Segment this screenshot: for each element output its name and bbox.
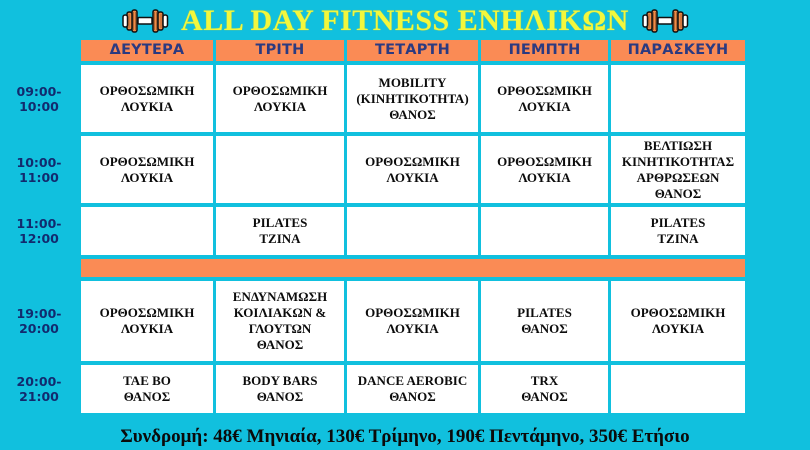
- time-end: 21:00: [19, 389, 59, 404]
- class-cell[interactable]: ΟΡΘΟΣΩΜΙΚΗ ΛΟΥΚΙΑ: [481, 136, 608, 203]
- class-cell[interactable]: [611, 65, 745, 132]
- footer: Συνδρομή: 48€ Μηνιαία, 130€ Τρίμηνο, 190…: [0, 422, 810, 450]
- schedule-table: ΔΕΥΤΕΡΑ ΤΡΙΤΗ ΤΕΤΑΡΤΗ ΠΕΜΠΤΗ ΠΑΡΑΣΚΕΥΗ 0…: [0, 40, 810, 413]
- time-start: 09:00-: [17, 84, 62, 99]
- day-header-thursday: ΠΕΜΠΤΗ: [481, 40, 608, 61]
- class-cell[interactable]: [611, 365, 745, 413]
- page-title: ALL DAY FITNESS ΕΝΗΛΙΚΩΝ: [181, 6, 629, 36]
- time-end: 10:00: [19, 99, 59, 114]
- class-cell[interactable]: [216, 136, 344, 203]
- class-cell[interactable]: ΟΡΘΟΣΩΜΙΚΗ ΛΟΥΚΙΑ: [81, 281, 213, 361]
- grid-right-margin: [748, 136, 788, 203]
- time-label-1900: 19:00- 20:00: [0, 281, 78, 361]
- time-label-0900: 09:00- 10:00: [0, 65, 78, 132]
- subscription-prices: Συνδρομή: 48€ Μηνιαία, 130€ Τρίμηνο, 190…: [120, 427, 689, 446]
- class-cell[interactable]: [347, 207, 478, 255]
- dumbbell-icon: [639, 4, 691, 38]
- section-divider-bar: [81, 259, 745, 277]
- day-header-wednesday: ΤΕΤΑΡΤΗ: [347, 40, 478, 61]
- class-cell[interactable]: [81, 207, 213, 255]
- time-start: 19:00-: [17, 306, 62, 321]
- grid-right-margin: [748, 65, 788, 132]
- time-start: 10:00-: [17, 155, 62, 170]
- class-cell[interactable]: [481, 207, 608, 255]
- class-cell[interactable]: PILATES ΘΑΝΟΣ: [481, 281, 608, 361]
- class-cell[interactable]: ΕΝΔΥΝΑΜΩΣΗ ΚΟΙΛΙΑΚΩΝ & ΓΛΟΥΤΩΝ ΘΑΝΟΣ: [216, 281, 344, 361]
- day-header-tuesday: ΤΡΙΤΗ: [216, 40, 344, 61]
- class-cell[interactable]: ΟΡΘΟΣΩΜΙΚΗ ΛΟΥΚΙΑ: [81, 136, 213, 203]
- grid-right-margin: [748, 259, 788, 277]
- class-cell[interactable]: PILATES TZINA: [611, 207, 745, 255]
- grid-right-margin: [748, 207, 788, 255]
- class-cell[interactable]: MOBILITY (ΚΙΝΗΤΙΚΟΤΗΤΑ) ΘΑΝΟΣ: [347, 65, 478, 132]
- dumbbell-icon: [119, 4, 171, 38]
- time-end: 20:00: [19, 321, 59, 336]
- day-header-monday: ΔΕΥΤΕΡΑ: [81, 40, 213, 61]
- divider-time-spacer: [0, 259, 78, 277]
- class-cell[interactable]: TRX ΘΑΝΟΣ: [481, 365, 608, 413]
- class-cell[interactable]: DANCE AEROBIC ΘΑΝΟΣ: [347, 365, 478, 413]
- time-start: 11:00-: [17, 216, 62, 231]
- grid-right-margin: [748, 40, 788, 61]
- time-label-1000: 10:00- 11:00: [0, 136, 78, 203]
- class-cell[interactable]: ΟΡΘΟΣΩΜΙΚΗ ΛΟΥΚΙΑ: [81, 65, 213, 132]
- time-start: 20:00-: [17, 374, 62, 389]
- grid-right-margin: [748, 281, 788, 361]
- class-cell[interactable]: BODY BARS ΘΑΝΟΣ: [216, 365, 344, 413]
- class-cell[interactable]: TAE BO ΘΑΝΟΣ: [81, 365, 213, 413]
- class-cell[interactable]: PILATES TZINA: [216, 207, 344, 255]
- class-cell[interactable]: ΟΡΘΟΣΩΜΙΚΗ ΛΟΥΚΙΑ: [216, 65, 344, 132]
- page-header: ALL DAY FITNESS ΕΝΗΛΙΚΩΝ: [0, 0, 810, 40]
- class-cell[interactable]: ΒΕΛΤΙΩΣΗ ΚΙΝΗΤΙΚΟΤΗΤΑΣ ΑΡΘΡΩΣΕΩΝ ΘΑΝΟΣ: [611, 136, 745, 203]
- class-cell[interactable]: ΟΡΘΟΣΩΜΙΚΗ ΛΟΥΚΙΑ: [347, 136, 478, 203]
- time-label-1100: 11:00- 12:00: [0, 207, 78, 255]
- time-end: 11:00: [19, 170, 59, 185]
- time-label-2000: 20:00- 21:00: [0, 365, 78, 413]
- class-cell[interactable]: ΟΡΘΟΣΩΜΙΚΗ ΛΟΥΚΙΑ: [481, 65, 608, 132]
- time-column-header: [0, 40, 78, 61]
- time-end: 12:00: [19, 231, 59, 246]
- day-header-friday: ΠΑΡΑΣΚΕΥΗ: [611, 40, 745, 61]
- class-cell[interactable]: ΟΡΘΟΣΩΜΙΚΗ ΛΟΥΚΙΑ: [611, 281, 745, 361]
- class-cell[interactable]: ΟΡΘΟΣΩΜΙΚΗ ΛΟΥΚΙΑ: [347, 281, 478, 361]
- grid-right-margin: [748, 365, 788, 413]
